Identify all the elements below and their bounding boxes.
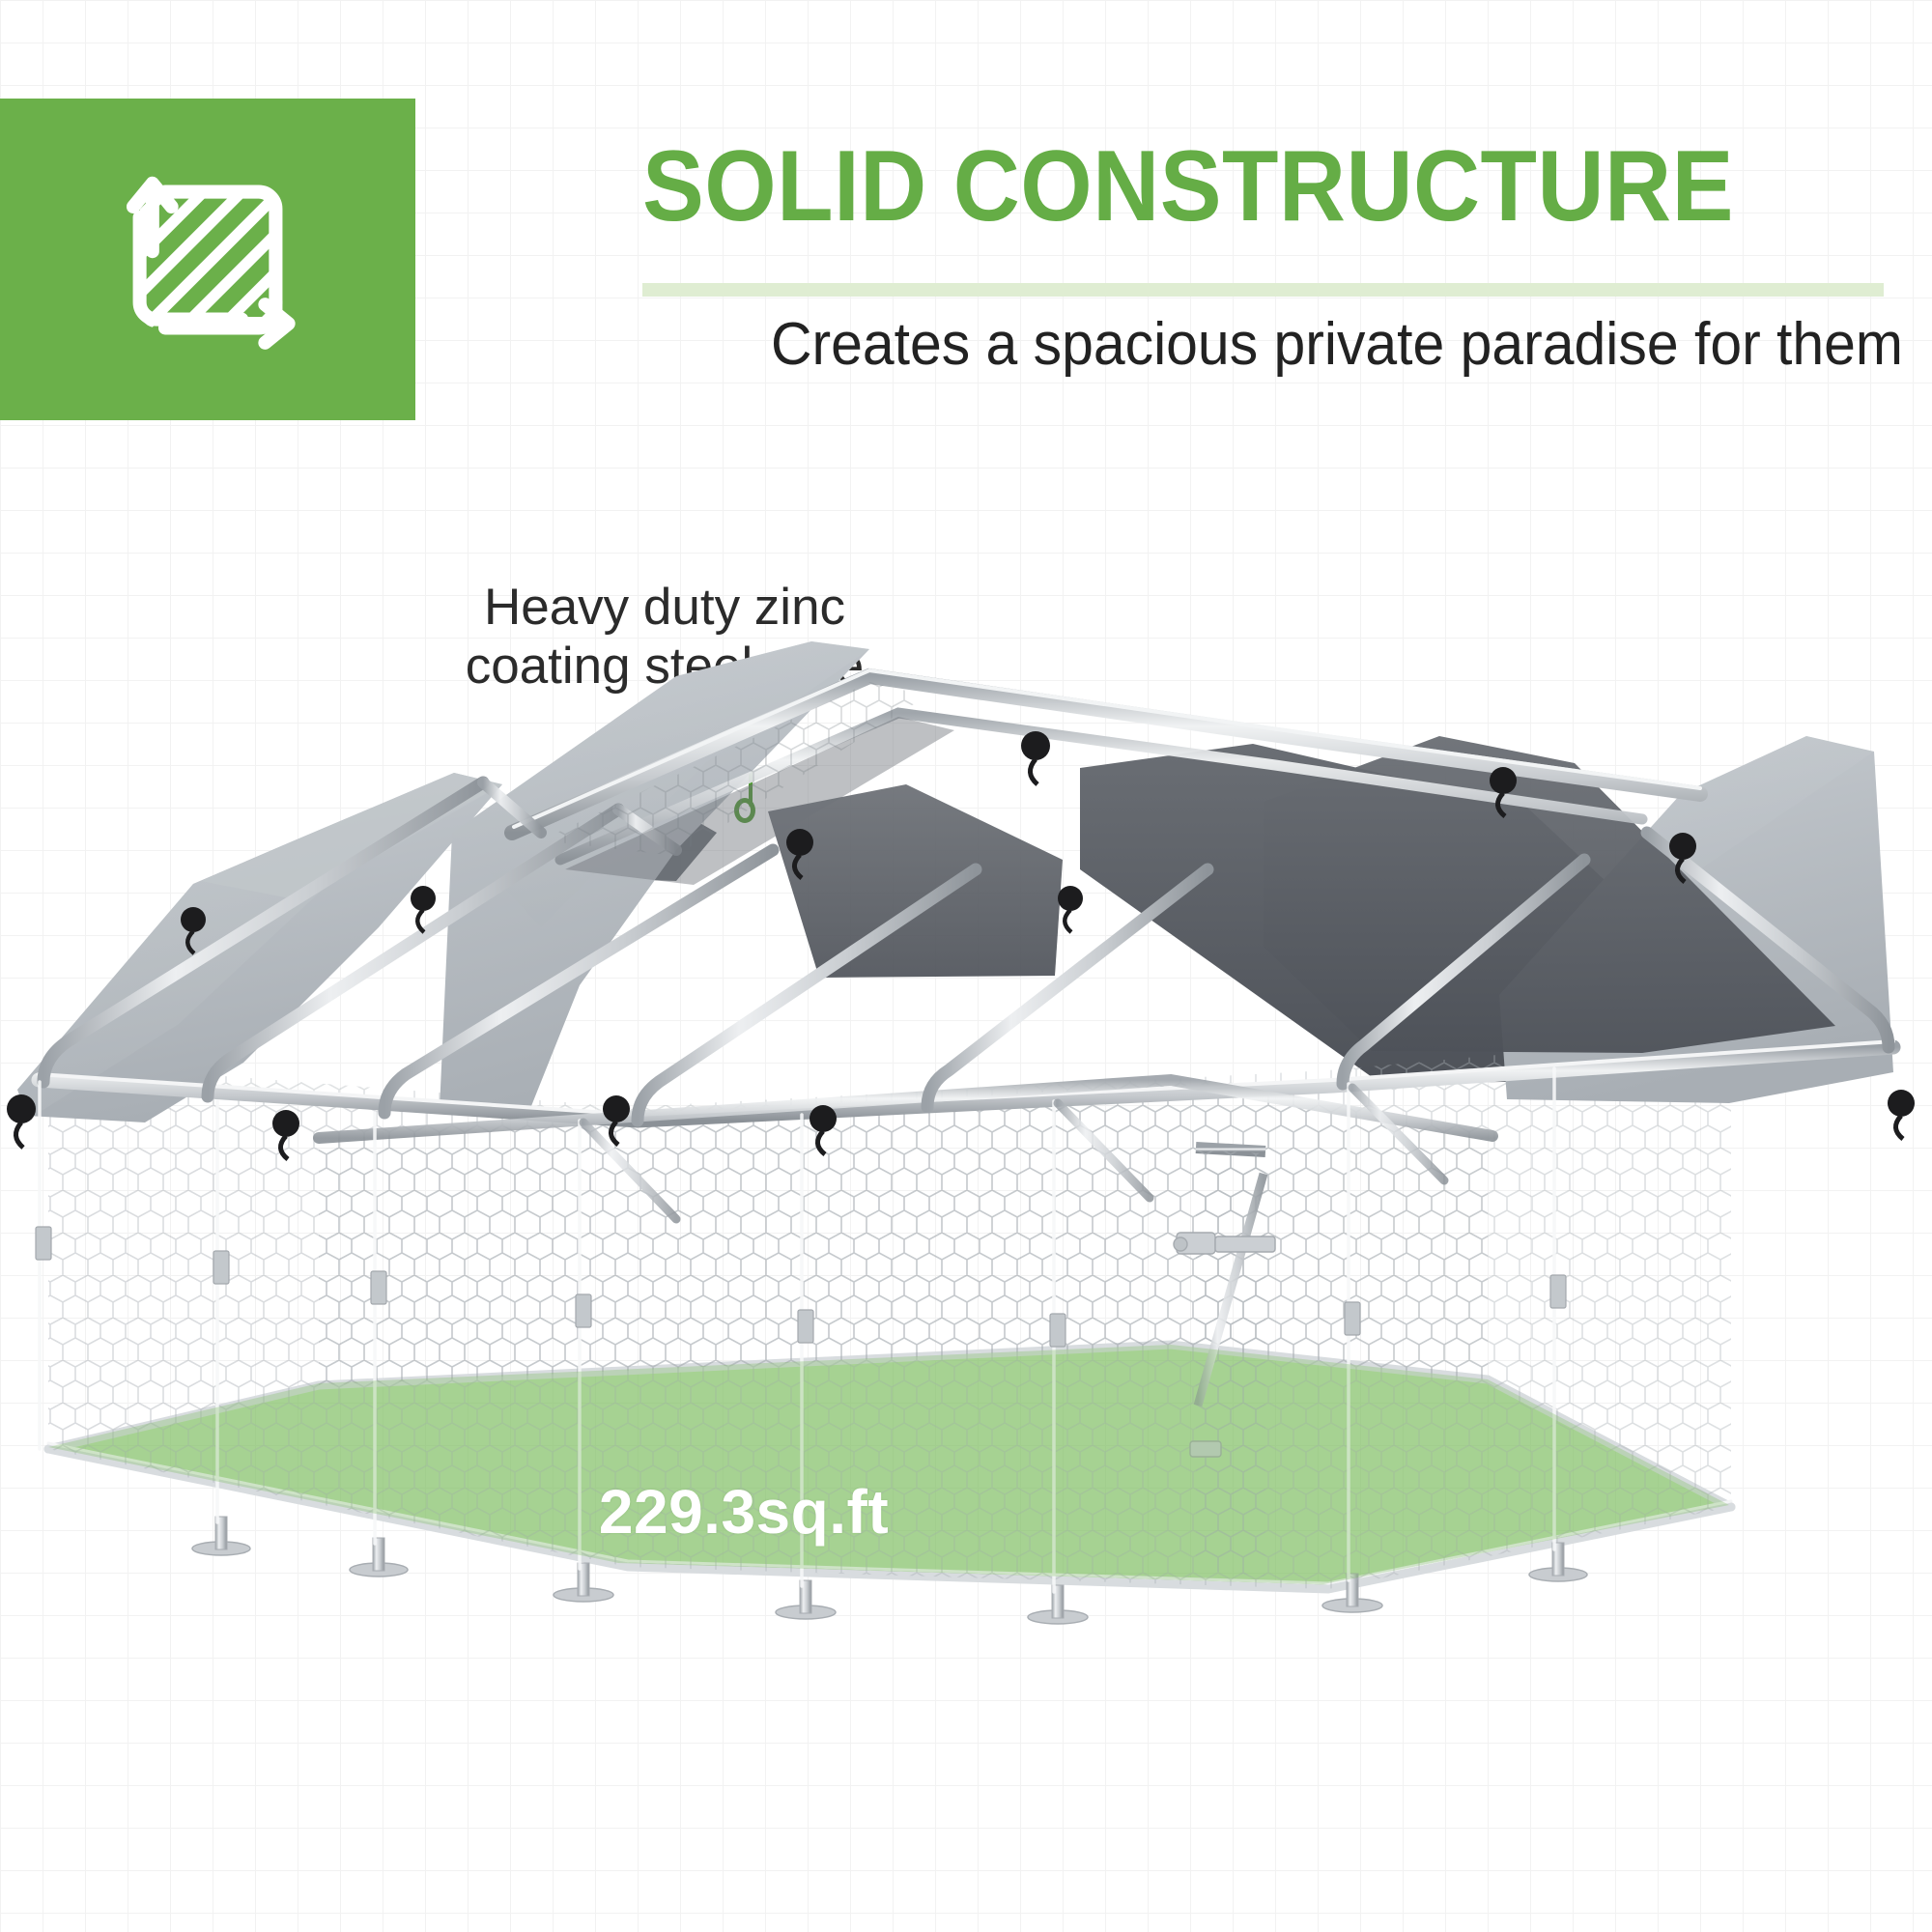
infographic-canvas: SOLID CONSTRUCTURE Creates a spacious pr… (0, 0, 1932, 1932)
floor-area-label: 229.3sq.ft (541, 1476, 947, 1548)
gate-latch-icon (1174, 1233, 1275, 1254)
product-illustration (0, 0, 1932, 1932)
